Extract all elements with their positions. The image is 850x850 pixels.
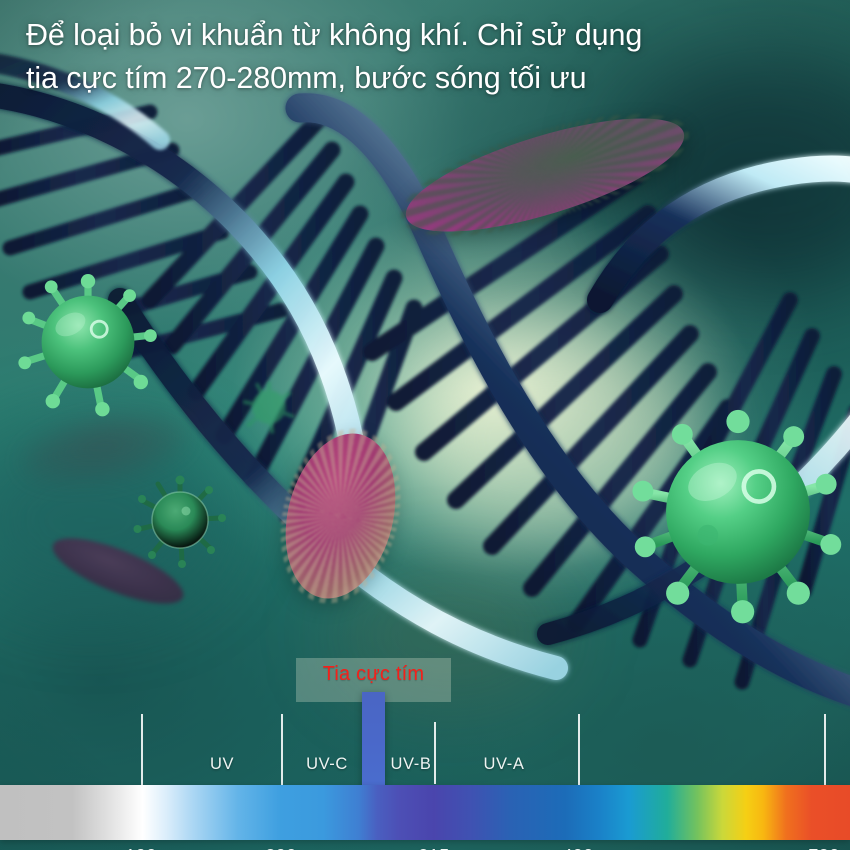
axis-label-200: 200 — [265, 846, 296, 850]
tick-100 — [141, 714, 143, 785]
infographic-stage: Để loại bỏ vi khuẩn từ không khí. Chỉ sử… — [0, 0, 850, 850]
axis-label-400: 400 — [562, 846, 593, 850]
axis-label-315: 315 — [418, 846, 449, 850]
page-title: Để loại bỏ vi khuẩn từ không khí. Chỉ sử… — [26, 14, 826, 99]
band-label-uv: UV — [210, 755, 234, 774]
tick-315 — [434, 722, 436, 784]
tick-200 — [281, 714, 283, 785]
uv-spectrum-chart: Tia cực tím UV UV-C UV-B UV-A 100 200 31… — [0, 650, 850, 850]
uv-title-label: Tia cực tím — [296, 663, 451, 686]
axis-label-780: 780 — [808, 846, 839, 850]
tick-400 — [578, 714, 580, 785]
spectrum-bar — [0, 785, 850, 840]
tick-780 — [824, 714, 826, 785]
axis-label-100: 100 — [125, 846, 156, 850]
band-label-uvb: UV-B — [391, 755, 432, 774]
band-label-uvc: UV-C — [306, 755, 348, 774]
band-label-uva: UV-A — [484, 755, 525, 774]
